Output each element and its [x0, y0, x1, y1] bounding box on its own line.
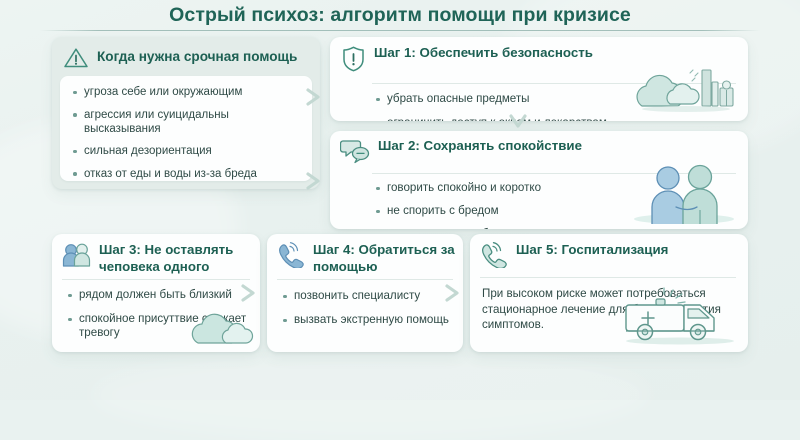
warning-card: Когда нужна срочная помощь угроза себе и…	[52, 37, 320, 189]
page-title: Острый психоз: алгоритм помощи при кризи…	[0, 0, 800, 28]
step4-card-title: Шаг 4: Обратиться за помощью	[313, 242, 455, 275]
step2-card-title: Шаг 2: Сохранять спокойствие	[378, 138, 582, 155]
step4-list: позвонить специалисту вызвать экстренную…	[267, 280, 463, 327]
warning-list: угроза себе или окружающим агрессия или …	[60, 76, 312, 189]
list-item: агрессия или суицидальны высказывания	[71, 108, 304, 136]
arrow-step3-to-step4	[239, 284, 265, 307]
two-people-icon	[626, 162, 742, 229]
step5-card-header: Шаг 5: Госпитализация	[470, 234, 748, 273]
phone-signal-icon	[480, 242, 508, 273]
title-divider	[40, 30, 760, 31]
two-persons-icon	[62, 242, 91, 273]
step1-card: Шаг 1: Обеспечить безопасность убрать оп…	[330, 37, 748, 121]
step4-card: Шаг 4: Обратиться за помощью позвонить с…	[267, 234, 463, 352]
speech-bubbles-icon	[340, 138, 370, 169]
warning-list-panel: угроза себе или окружающим агрессия или …	[60, 76, 312, 181]
clouds-city-icon	[636, 60, 740, 119]
list-item: вызвать экстренную помощь	[281, 313, 457, 327]
list-item: сильная дезориентация	[71, 144, 304, 158]
step4-card-header: Шаг 4: Обратиться за помощью	[267, 234, 463, 275]
shield-exclamation-icon	[341, 45, 366, 78]
step3-card-header: Шаг 3: Не оставлять чеповека одного	[52, 234, 260, 275]
warning-card-header: Когда нужна срочная помощь	[52, 37, 320, 75]
arrow-warning-to-step1	[304, 88, 330, 111]
list-item: рядом должен быть близкий	[66, 288, 252, 302]
list-item: позвонить специалисту	[281, 289, 457, 303]
infographic-canvas: Острый психоз: алгоритм помощи при кризи…	[0, 0, 800, 400]
warning-card-title: Когда нужна срочная помощь	[97, 46, 297, 66]
step1-card-title: Шаг 1: Обеспечить безопасность	[374, 45, 593, 62]
phone-signal-icon	[277, 242, 305, 273]
step2-card: Шаг 2: Сохранять спокойствие говорить сп…	[330, 131, 748, 229]
list-item: угроза себе или окружающим	[71, 85, 304, 99]
arrow-warning-to-step2	[304, 172, 330, 195]
step3-card-title: Шаг 3: Не оставлять чеповека одного	[99, 242, 252, 275]
step5-card-title: Шаг 5: Госпитализация	[516, 242, 668, 259]
step5-card: Шаг 5: Госпитализация При высоком риске …	[470, 234, 748, 352]
background-blob	[90, 350, 650, 440]
list-item: отказ от еды и воды из-за бреда	[71, 167, 304, 181]
ambulance-icon	[618, 285, 746, 352]
cloud-icon	[188, 301, 260, 352]
step3-card: Шаг 3: Не оставлять чеповека одного рядо…	[52, 234, 260, 352]
warning-triangle-icon	[63, 46, 89, 75]
